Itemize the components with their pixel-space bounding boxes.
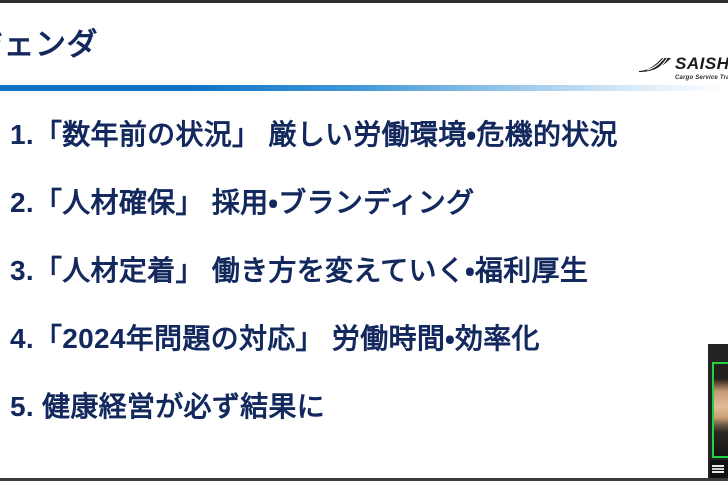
agenda-item-2: 2.「人材確保」 採用・ブランディング [0, 186, 700, 220]
brand-wordmark: SAISH [675, 55, 728, 73]
speed-swoosh-icon [638, 55, 672, 73]
brand-logo: SAISH Cargo Service Tran [638, 54, 728, 88]
bottom-letterbox-bar [0, 478, 728, 481]
brand-tagline: Cargo Service Tran [675, 75, 728, 81]
presenter-video-overlay[interactable] [708, 344, 728, 478]
agenda-item-3: 3.「人材定着」 働き方を変えていく・福利厚生 [0, 254, 700, 288]
top-letterbox-bar [0, 0, 728, 3]
agenda-list: 1.「数年前の状況」 厳しい労働環境・危機的状況 2.「人材確保」 採用・ブラン… [0, 118, 700, 424]
slide-canvas: ジェンダ SAISH Cargo Service Tran 1.「数年前の状況」… [0, 0, 728, 485]
page-title: ジェンダ [0, 24, 98, 66]
presenter-video-thumbnail[interactable] [712, 362, 728, 458]
header-divider-rule [0, 85, 728, 91]
agenda-item-5: 5. 健康経営が必ず結果に [0, 390, 700, 424]
video-controls-icon[interactable] [712, 465, 724, 473]
slide-header: ジェンダ SAISH Cargo Service Tran [0, 24, 728, 82]
agenda-item-4: 4.「2024年問題の対応」 労働時間・効率化 [0, 322, 700, 356]
agenda-item-1: 1.「数年前の状況」 厳しい労働環境・危機的状況 [0, 118, 700, 152]
video-controls-bar[interactable] [710, 460, 728, 478]
